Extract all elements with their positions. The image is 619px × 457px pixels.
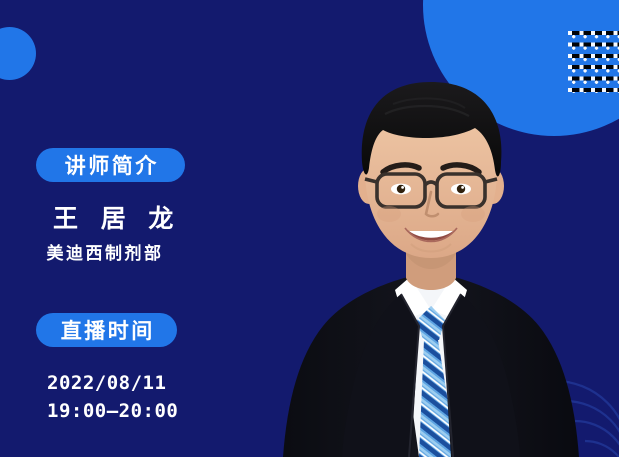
time-section-badge: 直播时间 [36,313,177,347]
speaker-organization: 美迪西制剂部 [44,239,164,264]
live-date: 2022/08/11 [47,372,166,394]
portrait-illustration-icon [243,58,619,457]
speaker-section-badge: 讲师简介 [36,148,185,182]
poster-text-content: 讲师简介 王 居 龙 美迪西制剂部 直播时间 2022/08/11 19:00—… [0,0,250,457]
live-session-poster: 讲师简介 王 居 龙 美迪西制剂部 直播时间 2022/08/11 19:00—… [0,0,619,457]
speaker-name: 王 居 龙 [46,199,180,235]
speaker-portrait [243,58,619,457]
live-time-range: 19:00—20:00 [47,400,178,422]
